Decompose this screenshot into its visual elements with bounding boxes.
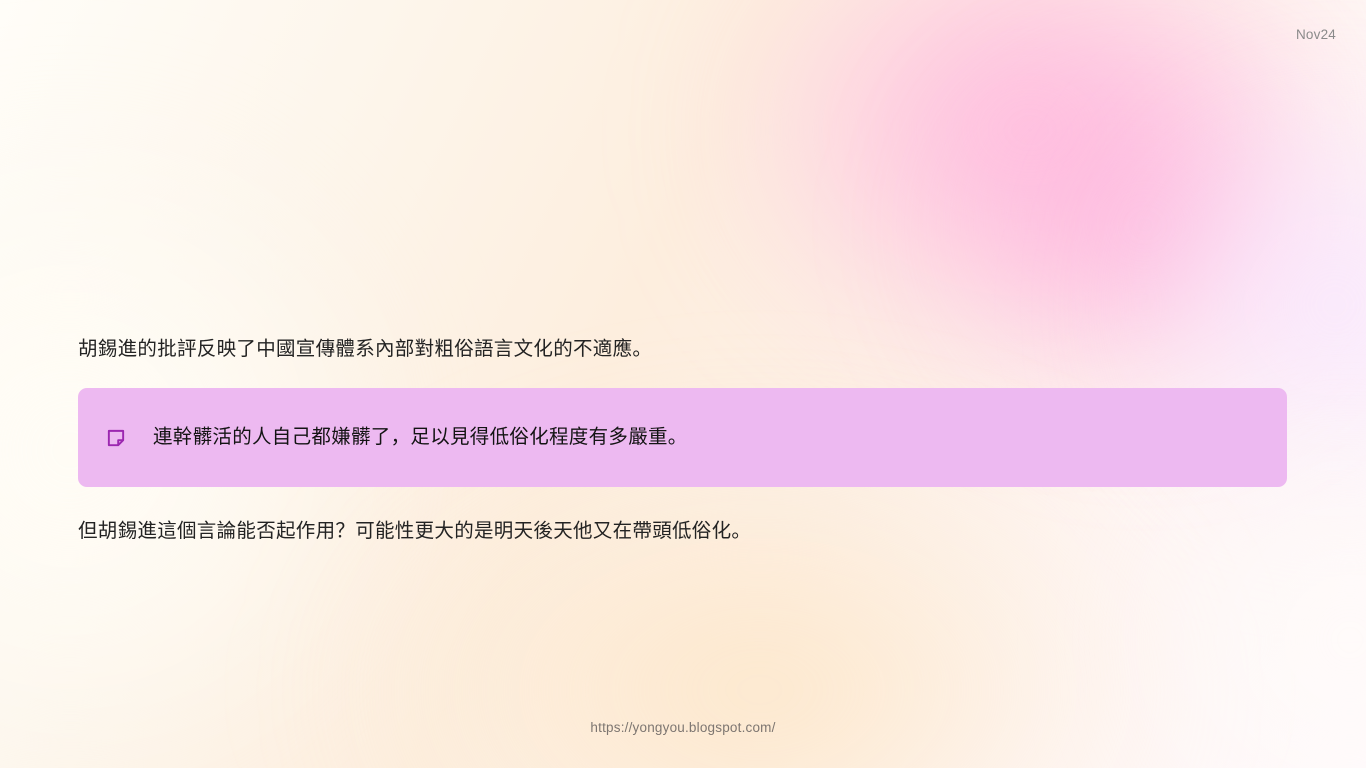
page-title-prefix: LT (78, 221, 139, 276)
slide-canvas: Nov24 LT觀點：自己都嫌髒了 胡錫進的批評反映了中國宣傳體系內部對粗俗語言… (0, 0, 1366, 768)
body-paragraph-1: 胡錫進的批評反映了中國宣傳體系內部對粗俗語言文化的不適應。 (78, 334, 652, 364)
note-icon (104, 426, 128, 450)
highlight-callout-text: 連幹髒活的人自己都嫌髒了，足以見得低俗化程度有多嚴重。 (153, 423, 688, 452)
date-label: Nov24 (1296, 27, 1336, 42)
footer-url: https://yongyou.blogspot.com/ (0, 720, 1366, 735)
page-title: LT觀點：自己都嫌髒了 (78, 219, 584, 280)
highlight-callout: 連幹髒活的人自己都嫌髒了，足以見得低俗化程度有多嚴重。 (78, 388, 1287, 487)
body-paragraph-2: 但胡錫進這個言論能否起作用？可能性更大的是明天後天他又在帶頭低俗化。 (78, 516, 751, 546)
page-title-rest: 觀點：自己都嫌髒了 (139, 222, 585, 276)
